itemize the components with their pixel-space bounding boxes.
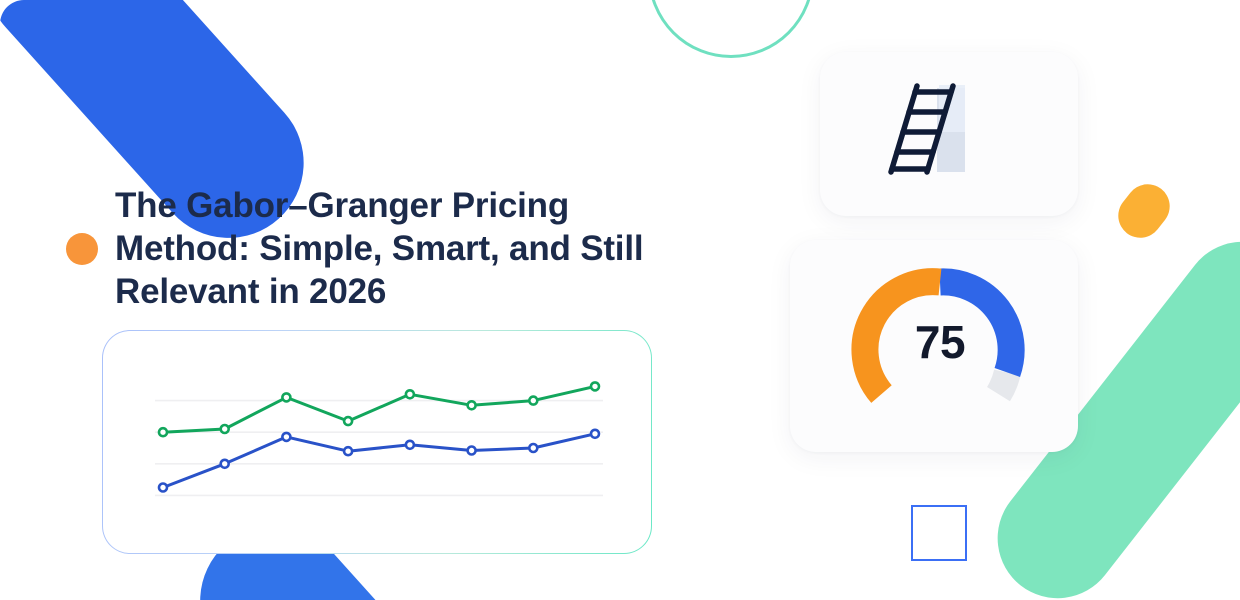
gauge-value-label: 75 (845, 255, 1035, 415)
ladder-icon-svg (875, 72, 995, 187)
line-chart-svg (103, 331, 653, 555)
chart-point-marker (406, 441, 414, 449)
chart-point-marker (344, 417, 352, 425)
orange-dot-icon (66, 233, 98, 265)
chart-point-marker (529, 444, 537, 452)
ladder-icon (875, 72, 995, 187)
chart-point-marker (591, 382, 599, 390)
gauge-chart: 75 (845, 255, 1035, 415)
chart-point-marker (468, 447, 476, 455)
chart-point-marker (468, 401, 476, 409)
chart-point-marker (591, 430, 599, 438)
mint-ring-top-shape (648, 0, 814, 58)
line-chart-card (102, 330, 652, 554)
chart-point-marker (221, 425, 229, 433)
chart-point-marker (406, 390, 414, 398)
chart-point-marker (282, 393, 290, 401)
chart-series-group (159, 382, 599, 491)
orange-pill-right-shape (1109, 175, 1178, 246)
chart-point-marker (344, 447, 352, 455)
chart-point-marker (159, 428, 167, 436)
page-canvas: 75 The Gabor–Granger Pricing Method: Sim… (0, 0, 1240, 600)
chart-point-marker (282, 433, 290, 441)
chart-point-marker (159, 484, 167, 492)
ladder-card (820, 52, 1078, 216)
chart-point-marker (221, 460, 229, 468)
blue-square-bottom-shape (911, 505, 967, 561)
chart-point-marker (529, 397, 537, 405)
page-title: The Gabor–Granger Pricing Method: Simple… (115, 184, 755, 313)
